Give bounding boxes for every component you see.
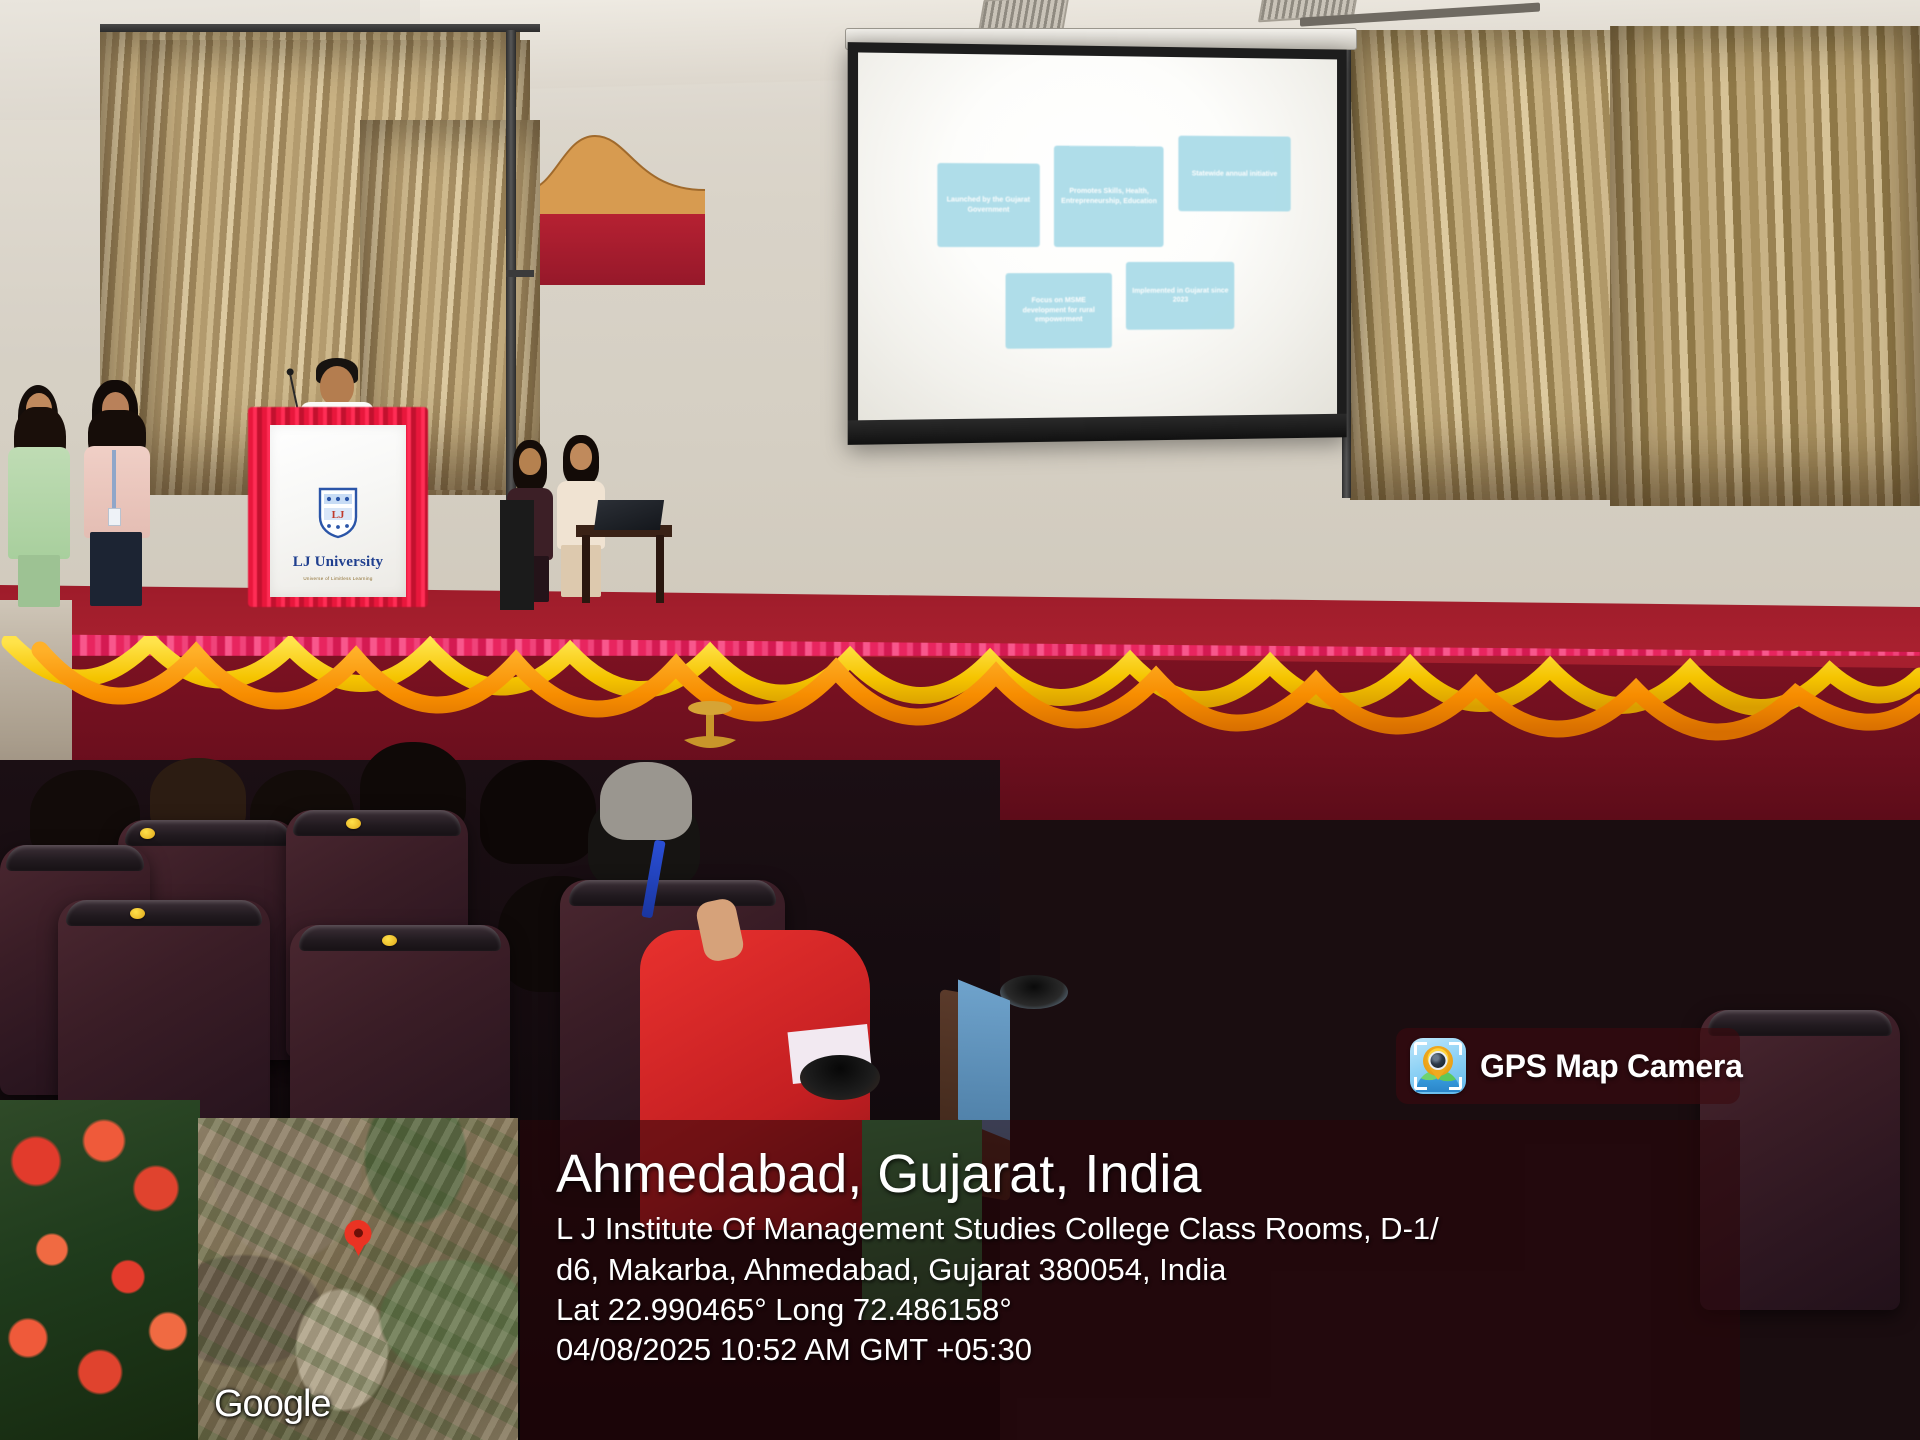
slide-box: Focus on MSME development for rural empo… <box>1006 273 1112 350</box>
person-foreground-floral-shawl <box>0 1100 200 1440</box>
person-standing-green-kurta <box>8 385 74 615</box>
id-card <box>108 508 121 526</box>
slide-box: Launched by the Gujarat Government <box>937 163 1039 247</box>
stage-table-leg <box>656 535 664 603</box>
presentation-slide: Launched by the Gujarat Government Promo… <box>858 52 1337 420</box>
seat-number-badge <box>346 818 361 829</box>
audience-head <box>480 760 596 864</box>
stage-chair <box>500 500 534 610</box>
gps-city-line: Ahmedabad, Gujarat, India <box>556 1146 1740 1203</box>
svg-text:LJ: LJ <box>332 509 345 521</box>
pole-crossbar <box>506 270 534 277</box>
seat-number-badge <box>140 828 155 839</box>
viewfinder-corner-icon <box>1414 1077 1427 1090</box>
gps-timestamp: 04/08/2025 10:52 AM GMT +05:30 <box>556 1330 1740 1370</box>
seat-headrest <box>6 845 144 871</box>
wall-panel-crimson-band <box>525 214 705 285</box>
gps-address-line-1: L J Institute Of Management Studies Coll… <box>556 1209 1740 1249</box>
lj-university-crest-icon: LJ <box>316 487 360 539</box>
audience-head-grey-hair <box>600 762 692 840</box>
seat-number-badge <box>382 935 397 946</box>
viewfinder-corner-icon <box>1449 1042 1462 1055</box>
cup-holder <box>1000 975 1068 1009</box>
google-watermark: Google <box>214 1383 331 1426</box>
seat-headrest <box>569 880 776 906</box>
gps-coordinates: Lat 22.990465° Long 72.486158° <box>556 1290 1740 1330</box>
projection-screen: Launched by the Gujarat Government Promo… <box>848 42 1347 445</box>
gps-camera-pin-icon <box>1410 1038 1466 1094</box>
camera-lens-icon <box>1429 1051 1448 1070</box>
slide-box: Statewide annual initiative <box>1178 136 1291 212</box>
marigold-garland <box>0 636 1920 776</box>
photo-canvas: Launched by the Gujarat Government Promo… <box>0 0 1920 1440</box>
slide-box: Implemented in Gujarat since 2023 <box>1126 262 1235 331</box>
seat-headrest <box>66 900 261 926</box>
projection-screen-surface: Launched by the Gujarat Government Promo… <box>858 52 1337 420</box>
laptop <box>594 500 664 530</box>
gps-map-camera-badge: GPS Map Camera <box>1396 1028 1740 1104</box>
seat-headrest <box>293 810 460 836</box>
podium: LJ LJ University Universe of Limitless L… <box>258 415 418 605</box>
slide-box: Promotes Skills, Health, Entrepreneurshi… <box>1054 146 1164 247</box>
gps-app-name: GPS Map Camera <box>1480 1048 1743 1085</box>
lanyard <box>112 450 116 512</box>
stage-table-leg <box>582 535 590 603</box>
person-standing-pink-shirt <box>82 380 154 615</box>
support-pole <box>506 30 516 500</box>
stage-curtain-right-outer <box>1610 26 1920 506</box>
seat-armrest-cover <box>958 979 1010 1140</box>
seat-headrest <box>299 925 501 951</box>
seat-number-badge <box>130 908 145 919</box>
viewfinder-corner-icon <box>1414 1042 1427 1055</box>
podium-university-tagline: Universe of Limitless Learning <box>270 576 406 581</box>
map-thumbnail[interactable]: Google <box>198 1118 518 1440</box>
viewfinder-corner-icon <box>1449 1077 1462 1090</box>
curtain-rod <box>100 24 540 32</box>
podium-university-name: LJ University <box>270 554 406 571</box>
podium-face-panel: LJ LJ University Universe of Limitless L… <box>270 425 406 597</box>
gps-address-line-2: d6, Makarba, Ahmedabad, Gujarat 380054, … <box>556 1250 1740 1290</box>
gps-info-overlay: Ahmedabad, Gujarat, India L J Institute … <box>520 1120 1740 1440</box>
map-pin-icon <box>345 1220 372 1247</box>
cup-holder <box>800 1055 880 1100</box>
wall-panel-left <box>525 130 705 285</box>
